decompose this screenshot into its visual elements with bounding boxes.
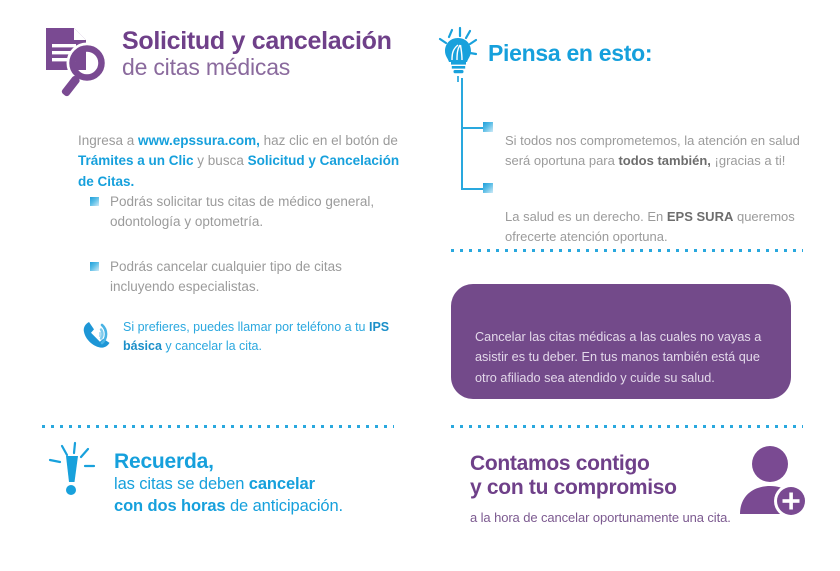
connector-arm bbox=[461, 188, 483, 190]
right-point: Si todos nos comprometemos, la atención … bbox=[505, 131, 825, 171]
square-bullet-icon bbox=[90, 197, 99, 206]
connector-arm bbox=[461, 127, 483, 129]
infographic-page: Solicitud y cancelación de citas médicas… bbox=[0, 0, 840, 571]
phone-note-part1: Si prefieres, puedes llamar por teléfono… bbox=[123, 320, 369, 334]
list-item-label: Podrás cancelar cualquier tipo de citas … bbox=[110, 257, 410, 298]
page-title-line1: Solicitud y cancelación bbox=[122, 28, 392, 55]
phone-note-text: Si prefieres, puedes llamar por teléfono… bbox=[123, 318, 410, 356]
connector-rail bbox=[461, 78, 463, 188]
intro-part1: Ingresa a bbox=[78, 133, 138, 148]
right-point: La salud es un derecho. En EPS SURA quer… bbox=[505, 207, 825, 247]
right-title: Piensa en esto: bbox=[488, 40, 652, 67]
dos-horas-label: con dos horas bbox=[114, 497, 225, 515]
cancelar-label: cancelar bbox=[249, 475, 315, 493]
square-bullet-icon bbox=[483, 122, 493, 132]
contamos-title-line2: y con tu compromiso bbox=[470, 476, 731, 500]
recuerda-line3: con dos horas de anticipación. bbox=[114, 496, 343, 517]
contamos-block: Contamos contigo y con tu compromiso a l… bbox=[470, 452, 731, 525]
list-item: Podrás solicitar tus citas de médico gen… bbox=[90, 192, 410, 233]
square-bullet-icon bbox=[90, 262, 99, 271]
list-item: Podrás cancelar cualquier tipo de citas … bbox=[90, 257, 410, 298]
divider-right-bottom bbox=[451, 425, 803, 428]
document-magnifier-icon bbox=[38, 22, 116, 100]
left-title-block: Solicitud y cancelación de citas médicas bbox=[122, 28, 392, 81]
intro-part2: haz clic en el botón de bbox=[260, 133, 398, 148]
tramites-un-clic-label: Trámites a un Clic bbox=[78, 153, 194, 168]
purple-callout-card: Cancelar las citas médicas a las cuales … bbox=[451, 284, 791, 399]
contamos-subtitle: a la hora de cancelar oportunamente una … bbox=[470, 510, 731, 525]
right-point-part2: ¡gracias a ti! bbox=[711, 153, 785, 168]
epssura-link[interactable]: www.epssura.com, bbox=[138, 133, 260, 148]
recuerda-line2: las citas se deben cancelar bbox=[114, 474, 343, 495]
left-header: Solicitud y cancelación de citas médicas bbox=[38, 22, 392, 100]
page-title-line2: de citas médicas bbox=[122, 55, 392, 81]
square-bullet-icon bbox=[483, 183, 493, 193]
eps-sura-label: EPS SURA bbox=[667, 209, 733, 224]
lightbulb-icon bbox=[430, 24, 486, 82]
purple-card-text: Cancelar las citas médicas a las cuales … bbox=[475, 327, 771, 389]
intro-part3: y busca bbox=[194, 153, 248, 168]
right-header: Piensa en esto: bbox=[430, 24, 652, 82]
recuerda-text-block: Recuerda, las citas se deben cancelar co… bbox=[114, 450, 343, 517]
phone-call-icon bbox=[80, 316, 116, 352]
divider-left bbox=[42, 425, 394, 428]
list-item-label: Podrás solicitar tus citas de médico gen… bbox=[110, 192, 410, 233]
recuerda-block: Recuerda, las citas se deben cancelar co… bbox=[42, 440, 343, 517]
add-person-icon bbox=[730, 444, 812, 522]
divider-right-top bbox=[451, 249, 803, 252]
recuerda-title: Recuerda, bbox=[114, 450, 343, 474]
exclamation-rays-icon bbox=[42, 440, 104, 506]
phone-note: Si prefieres, puedes llamar por teléfono… bbox=[80, 314, 410, 356]
intro-paragraph: Ingresa a www.epssura.com, haz clic en e… bbox=[78, 131, 408, 193]
right-point-part1: La salud es un derecho. En bbox=[505, 209, 667, 224]
todos-tambien-label: todos también, bbox=[618, 153, 710, 168]
recuerda-line3-part2: de anticipación. bbox=[225, 497, 343, 515]
recuerda-line2-part1: las citas se deben bbox=[114, 475, 249, 493]
phone-note-part2: y cancelar la cita. bbox=[162, 339, 262, 353]
left-bullet-list: Podrás solicitar tus citas de médico gen… bbox=[90, 192, 410, 321]
contamos-title-line1: Contamos contigo bbox=[470, 452, 731, 476]
